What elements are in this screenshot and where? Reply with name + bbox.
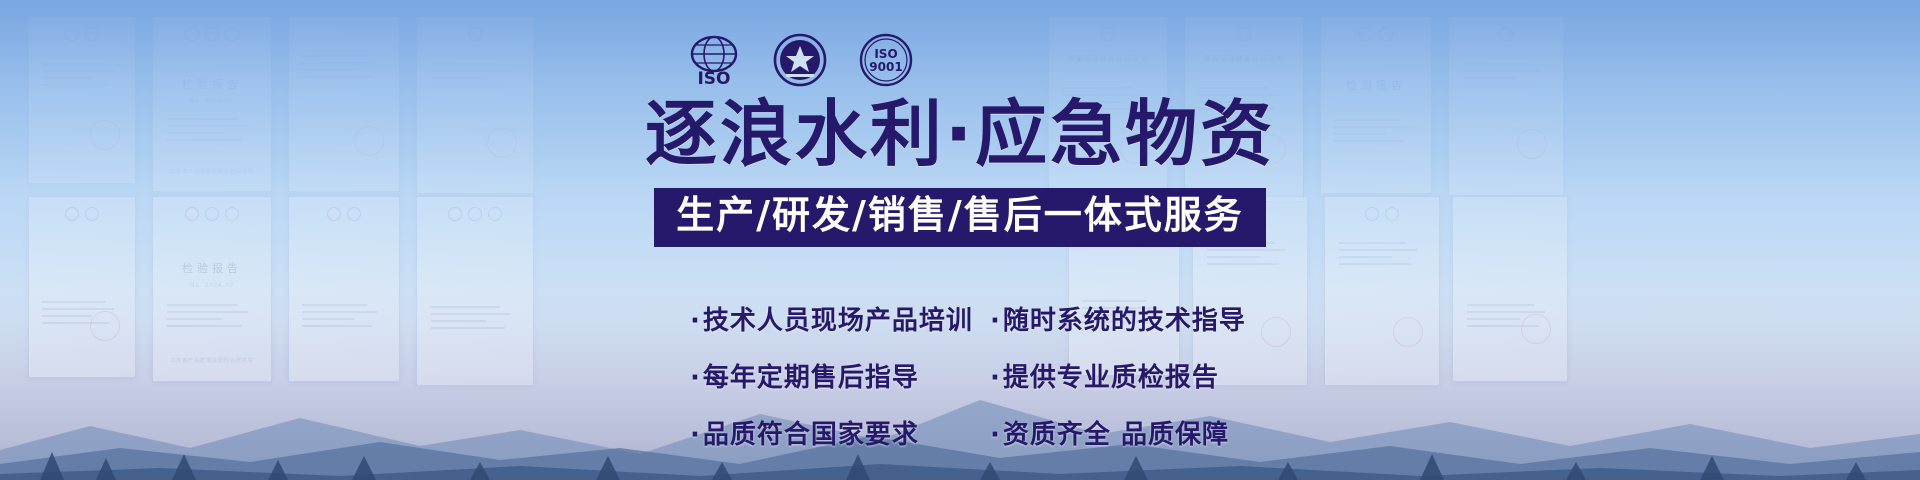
bullet-marker: ·	[690, 363, 701, 393]
bullet-item: ·随时系统的技术指导	[990, 300, 1230, 337]
iso-badge: ISO	[686, 32, 742, 88]
promotional-banner: 检验报告 No. 2024-01 江苏省产品质量监督检验研究院 质量管理体系认证…	[0, 0, 1920, 480]
certification-badge-row: ISO ISO 9001	[686, 32, 914, 88]
bullet-item: ·技术人员现场产品培训	[690, 300, 968, 337]
quality-seal-badge	[772, 32, 828, 88]
headline-block: 逐浪水利·应急物资 生产/研发/销售/售后一体式服务	[0, 96, 1920, 247]
bullet-text: 每年定期售后指导	[703, 363, 919, 393]
certificate-seal-group	[65, 27, 99, 41]
certificate-title: 质量管理体系认证证书	[1049, 54, 1167, 64]
certificate-title: 检验报告	[153, 76, 271, 92]
bullet-text: 技术人员现场产品培训	[703, 306, 973, 336]
quality-seal-icon	[772, 32, 828, 88]
page-title: 逐浪水利·应急物资	[0, 96, 1920, 174]
bullet-item: ·品质符合国家要求	[690, 414, 968, 451]
iso-badge-label: ISO	[697, 69, 730, 88]
bullet-text: 随时系统的技术指导	[1003, 306, 1246, 336]
certificate-title: 检测报告	[1321, 77, 1431, 93]
certificate-seal-group	[1237, 27, 1251, 41]
feature-bullets: ·技术人员现场产品培训 ·随时系统的技术指导 ·每年定期售后指导 ·提供专业质检…	[0, 300, 1920, 451]
certificate-seal-group	[468, 27, 482, 41]
bullet-item: ·资质齐全 品质保障	[990, 414, 1230, 451]
bullet-marker: ·	[990, 306, 1001, 336]
iso-9001-line2: 9001	[869, 60, 902, 74]
bullet-item: ·提供专业质检报告	[990, 357, 1230, 394]
certificate-seal-group	[1359, 27, 1393, 41]
certificate-seal-group	[185, 27, 239, 41]
iso-9001-line1: ISO	[874, 47, 897, 61]
bullet-text: 资质齐全 品质保障	[1003, 420, 1229, 450]
certificate-seal-group	[1499, 27, 1513, 41]
bullet-item: ·每年定期售后指导	[690, 357, 968, 394]
bullet-marker: ·	[690, 420, 701, 450]
bullet-marker: ·	[990, 363, 1001, 393]
iso-9001-seal-icon: ISO 9001	[858, 32, 914, 88]
certificate-title: 检验报告	[153, 260, 271, 276]
iso-globe-icon: ISO	[686, 32, 742, 88]
bullet-text: 提供专业质检报告	[1003, 363, 1219, 393]
iso-9001-badge: ISO 9001	[858, 32, 914, 88]
certificate-title: 环境管理体系认证证书	[1185, 54, 1303, 64]
certificate-seal-group	[1101, 27, 1115, 41]
subtitle-banner: 生产/研发/销售/售后一体式服务	[654, 188, 1266, 247]
bullet-text: 品质符合国家要求	[703, 420, 919, 450]
bullet-marker: ·	[690, 306, 701, 336]
certificate-subtitle: No. 2024-02	[153, 283, 271, 289]
bullet-marker: ·	[990, 420, 1001, 450]
